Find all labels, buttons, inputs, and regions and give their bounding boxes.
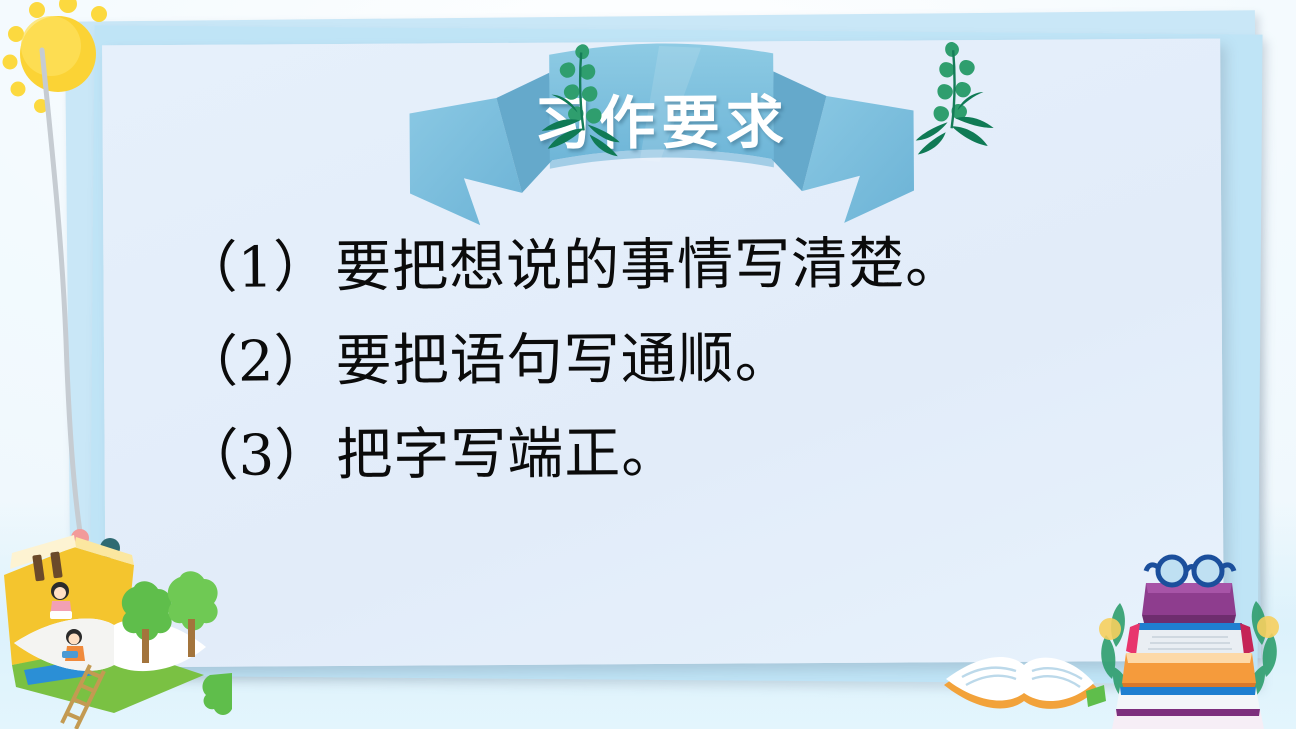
item-number: （2）	[182, 329, 330, 395]
item-text: 要把语句写通顺。	[335, 326, 791, 394]
slide-canvas: 习作要求	[0, 0, 1296, 729]
open-book-with-trees-illustration	[0, 525, 234, 729]
hanging-string-icon	[14, 40, 134, 560]
item-text: 要把想说的事情写清楚。	[335, 231, 962, 300]
content-card: 习作要求	[102, 39, 1224, 668]
item-number: （1）	[181, 235, 329, 301]
list-item: （3）把字写端正。	[182, 423, 1162, 485]
leaf-sprig-icon	[527, 38, 638, 169]
item-text: 把字写端正。	[336, 421, 678, 488]
stacked-books-with-glasses-illustration	[1084, 543, 1294, 729]
requirements-list: （1）要把想说的事情写清楚。 （2）要把语句写通顺。 （3）把字写端正。	[181, 235, 1163, 523]
item-number: （3）	[182, 423, 330, 489]
list-item: （2）要把语句写通顺。	[182, 329, 1162, 391]
list-item: （1）要把想说的事情写清楚。	[181, 235, 1161, 297]
open-book-illustration	[936, 627, 1106, 727]
leaf-sprig-icon	[897, 36, 1008, 167]
